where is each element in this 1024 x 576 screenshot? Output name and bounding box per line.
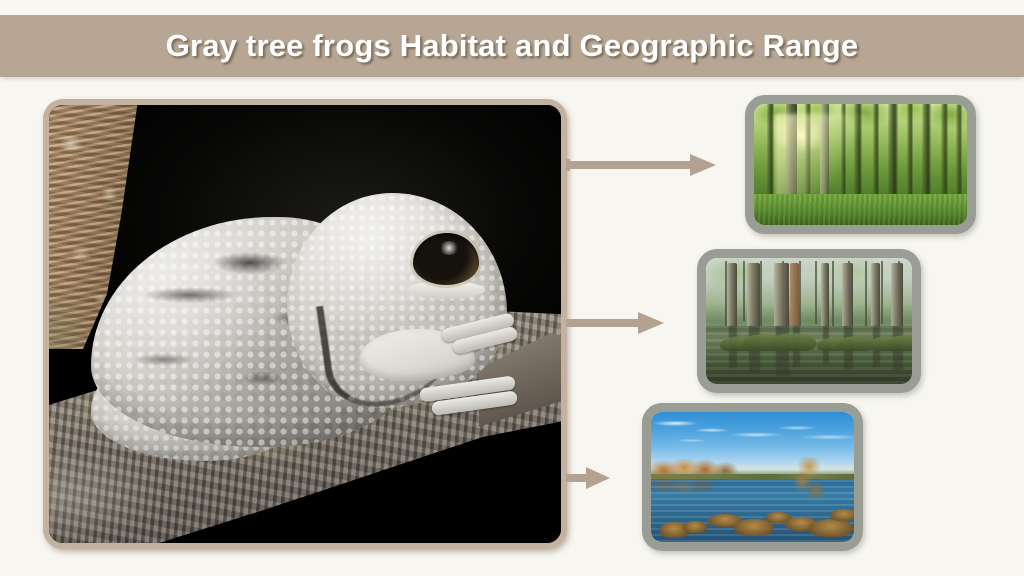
hero-image-frame bbox=[43, 99, 567, 549]
forest-photo bbox=[754, 104, 967, 225]
habitat-thumbnail-swamp bbox=[697, 249, 921, 393]
wetland-scene bbox=[651, 412, 854, 542]
swamp-scene bbox=[706, 258, 912, 384]
title-banner: Gray tree frogs Habitat and Geographic R… bbox=[0, 15, 1024, 77]
habitat-thumbnail-wetland bbox=[642, 403, 863, 551]
habitat-thumbnail-forest bbox=[745, 95, 976, 234]
arrow-right-icon-wetland bbox=[566, 467, 610, 489]
swamp-photo bbox=[706, 258, 912, 384]
forest-scene bbox=[754, 104, 967, 225]
arrow-right-icon-swamp bbox=[566, 312, 664, 334]
wetland-photo bbox=[651, 412, 854, 542]
gray-tree-frog-photo bbox=[49, 105, 561, 543]
forest-sunbeam bbox=[775, 114, 886, 199]
wetland-foreground-shrub bbox=[788, 457, 830, 513]
frog-figure bbox=[91, 193, 511, 483]
arrow-right-icon-forest bbox=[566, 154, 716, 176]
frog-eye bbox=[413, 233, 479, 285]
page-title: Gray tree frogs Habitat and Geographic R… bbox=[166, 28, 859, 64]
swamp-trunk-bases bbox=[706, 324, 912, 352]
forest-floor-grass bbox=[754, 194, 967, 225]
